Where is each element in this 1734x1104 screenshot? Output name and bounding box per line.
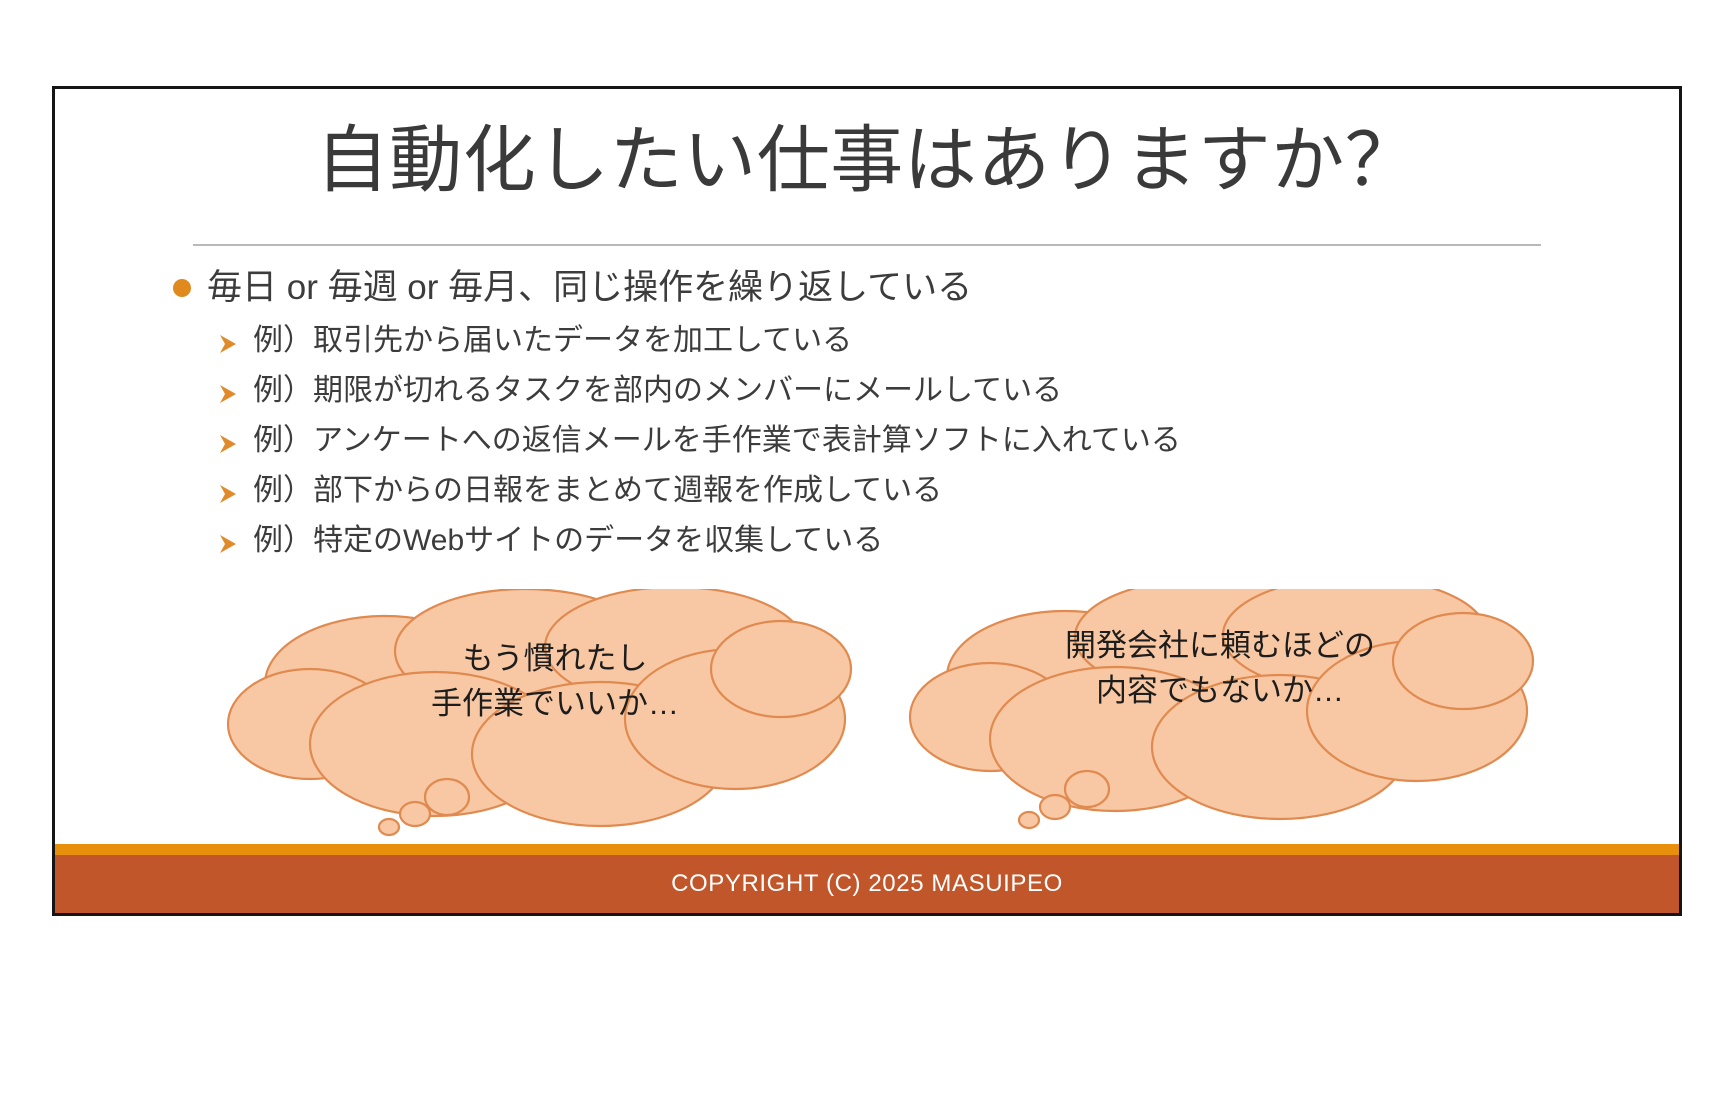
thought-bubble-right-label: 開発会社に頼むほどの 内容でもないか…	[1000, 624, 1440, 714]
chevron-right-icon	[217, 529, 239, 553]
chevron-right-icon	[217, 429, 239, 453]
list-item: 例）特定のWebサイトのデータを収集している	[217, 523, 1593, 559]
copyright-text: COPYRIGHT (C) 2025 MASUIPEO	[671, 870, 1063, 898]
list-item: 例）取引先から届いたデータを加工している	[217, 323, 1593, 359]
chevron-right-icon	[217, 329, 239, 353]
list-item-label: 例）特定のWebサイトのデータを収集している	[253, 523, 883, 559]
list-item-label: 毎日 or 毎週 or 毎月、同じ操作を繰り返している	[207, 267, 972, 309]
list-item-label: 例）アンケートへの返信メールを手作業で表計算ソフトに入れている	[253, 423, 1181, 459]
list-item: 毎日 or 毎週 or 毎月、同じ操作を繰り返している	[173, 267, 1593, 309]
chevron-right-icon	[217, 479, 239, 503]
thought-bubble-left-label: もう慣れたし 手作業でいいか…	[355, 637, 755, 727]
list-item-label: 例）部下からの日報をまとめて週報を作成している	[253, 473, 942, 509]
slide-canvas: 自動化したい仕事はありますか？ 毎日 or 毎週 or 毎月、同じ操作を繰り返し…	[52, 86, 1682, 916]
page-title: 自動化したい仕事はありますか？	[55, 121, 1679, 201]
footer-accent-strip	[55, 844, 1679, 855]
dot-bullet-icon	[173, 279, 191, 297]
footer-bar: COPYRIGHT (C) 2025 MASUIPEO	[55, 855, 1679, 913]
chevron-right-icon	[217, 379, 239, 403]
list-item: 例）アンケートへの返信メールを手作業で表計算ソフトに入れている	[217, 423, 1593, 459]
list-item: 例）期限が切れるタスクを部内のメンバーにメールしている	[217, 373, 1593, 409]
bullet-list: 毎日 or 毎週 or 毎月、同じ操作を繰り返している 例）取引先から届いたデー…	[173, 267, 1593, 573]
list-item-label: 例）期限が切れるタスクを部内のメンバーにメールしている	[253, 373, 1062, 409]
title-divider	[193, 244, 1541, 246]
list-item: 例）部下からの日報をまとめて週報を作成している	[217, 473, 1593, 509]
list-item-label: 例）取引先から届いたデータを加工している	[253, 323, 852, 359]
